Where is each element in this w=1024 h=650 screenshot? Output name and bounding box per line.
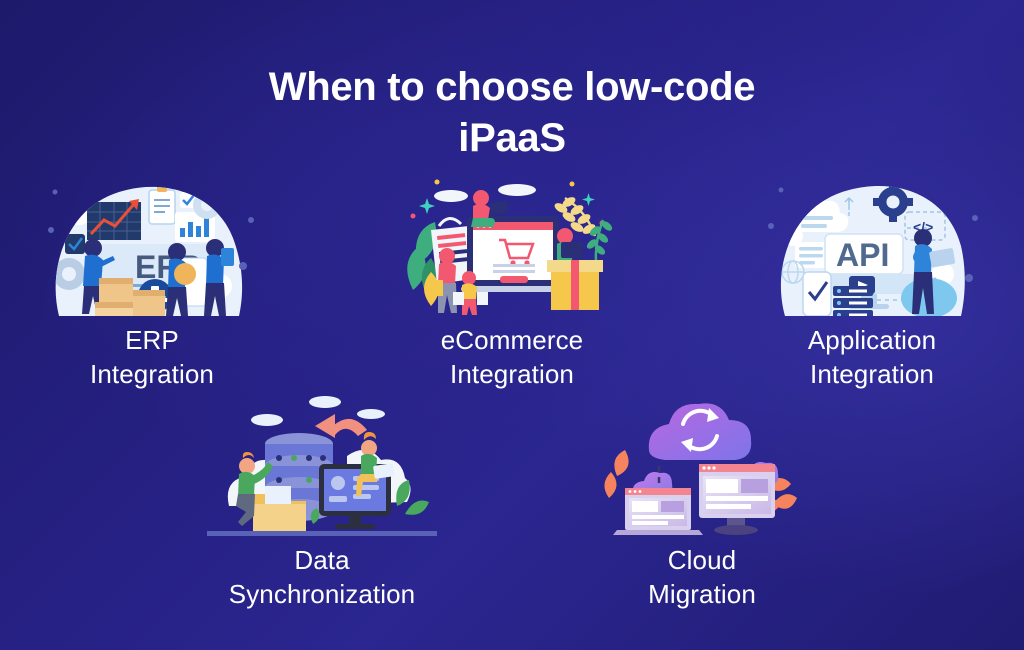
- card-label-application: Application Integration: [808, 324, 936, 391]
- page-title-line2: iPaaS: [0, 113, 1024, 164]
- card-label-line1: Cloud: [648, 544, 756, 578]
- card-label-line1: Data: [229, 544, 416, 578]
- card-data-synchronization[interactable]: Data Synchronization: [197, 388, 447, 611]
- card-label-ecommerce: eCommerce Integration: [441, 324, 584, 391]
- card-label-line2: Synchronization: [229, 578, 416, 612]
- card-row-bottom: Data Synchronization: [0, 388, 1024, 611]
- erp-illustration: ERP: [37, 168, 267, 316]
- data-sync-illustration: [207, 388, 437, 536]
- card-cloud-migration[interactable]: Cloud Migration: [577, 388, 827, 611]
- ecommerce-illustration: [397, 168, 627, 316]
- card-ecommerce-integration[interactable]: eCommerce Integration: [387, 168, 637, 391]
- cloud-migration-illustration: [587, 388, 817, 536]
- card-application-integration[interactable]: </> API: [747, 168, 997, 391]
- page-title-line1: When to choose low-code: [0, 62, 1024, 113]
- page-title: When to choose low-code iPaaS: [0, 62, 1024, 164]
- card-label-line2: Integration: [808, 358, 936, 392]
- card-label-line1: eCommerce: [441, 324, 584, 358]
- api-illustration: </> API: [757, 168, 987, 316]
- svg-text:API: API: [836, 237, 889, 273]
- card-erp-integration[interactable]: ERP: [27, 168, 277, 391]
- card-label-cloud-migration: Cloud Migration: [648, 544, 756, 611]
- card-label-line2: Migration: [648, 578, 756, 612]
- card-label-line1: Application: [808, 324, 936, 358]
- card-label-line2: Integration: [90, 358, 214, 392]
- card-label-line2: Integration: [441, 358, 584, 392]
- card-label-erp: ERP Integration: [90, 324, 214, 391]
- slide-canvas: When to choose low-code iPaaS: [0, 0, 1024, 650]
- card-row-top: ERP: [0, 168, 1024, 391]
- card-label-line1: ERP: [90, 324, 214, 358]
- card-label-data-sync: Data Synchronization: [229, 544, 416, 611]
